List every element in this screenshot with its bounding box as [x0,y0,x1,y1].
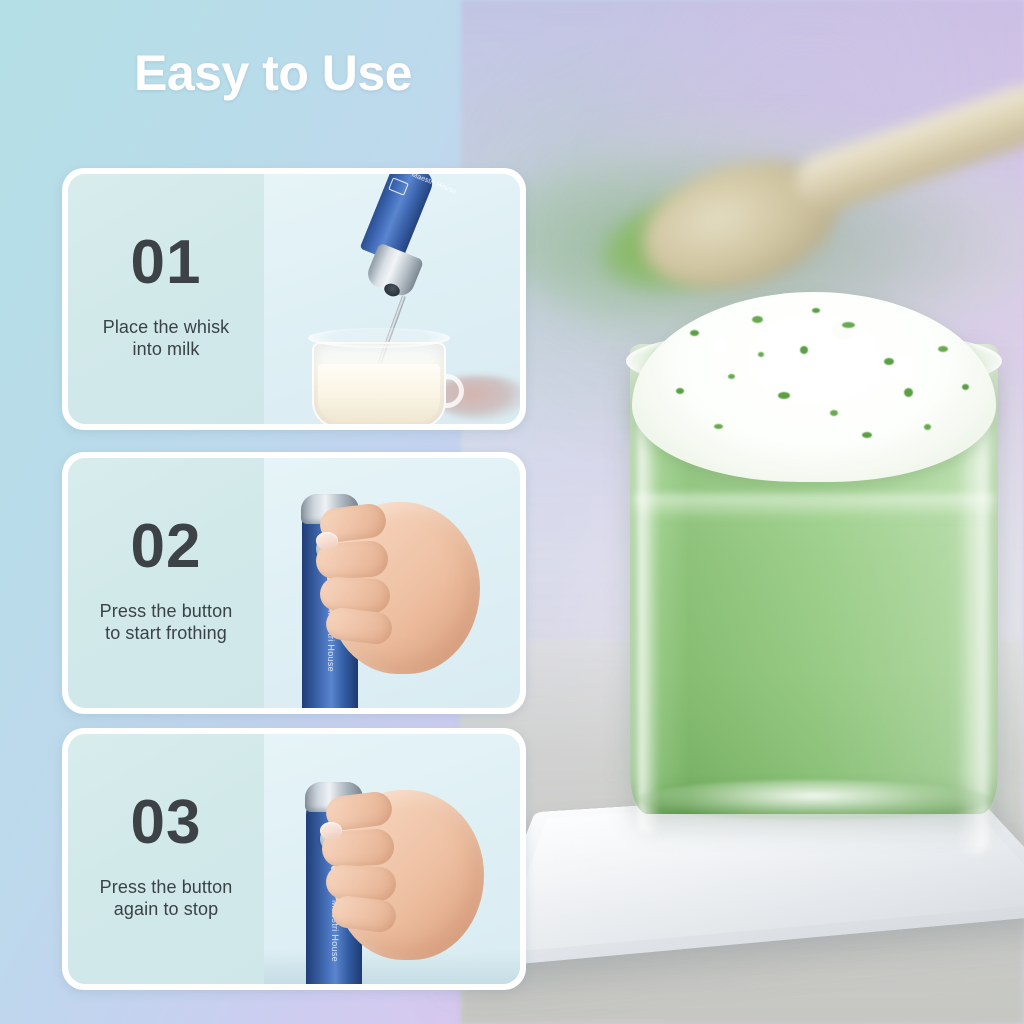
matcha-latte-glass [630,292,998,837]
step-03-info-panel: 03 Press the button again to stop [68,734,264,984]
step-03-caption: Press the button again to stop [92,876,241,921]
step-02-number: 02 [131,516,202,578]
step-03-number: 03 [131,792,202,854]
step-card-03: 03 Press the button again to stop Maestr… [62,728,526,990]
step-02-image: Maestri House [264,458,520,708]
thumb-nail [320,822,342,839]
glass-highlight-right [958,404,988,854]
step-card-01: 01 Place the whisk into milk Maestri Hou… [62,168,526,430]
step-01-caption: Place the whisk into milk [95,316,238,361]
milk-glass-rim [308,328,450,348]
thumb-nail [316,532,338,549]
ring-finger [325,864,397,902]
step-01-info-panel: 01 Place the whisk into milk [68,174,264,424]
step-02-caption-line2: to start frothing [105,623,227,643]
step-02-info-panel: 02 Press the button to start frothing [68,458,264,708]
step-02-caption-line1: Press the button [100,601,233,621]
step-03-image: Maestri House [264,734,520,984]
step-03-caption-line1: Press the button [100,877,233,897]
step-01-caption-line2: into milk [133,339,200,359]
glass-base-shine [636,780,992,820]
ring-finger [319,576,391,614]
drink-foam-boundary [634,494,994,520]
step-01-caption-line1: Place the whisk [103,317,230,337]
glass-highlight-left [638,414,660,834]
step-02-caption: Press the button to start frothing [92,600,241,645]
step-01-image: Maestri House [264,174,520,424]
page-title: Easy to Use [134,44,412,102]
step-card-02: 02 Press the button to start frothing Ma… [62,452,526,714]
milk-liquid [318,364,440,422]
step-03-caption-line2: again to stop [114,899,218,919]
step-01-number: 01 [131,232,202,294]
milk-foam [632,292,996,482]
